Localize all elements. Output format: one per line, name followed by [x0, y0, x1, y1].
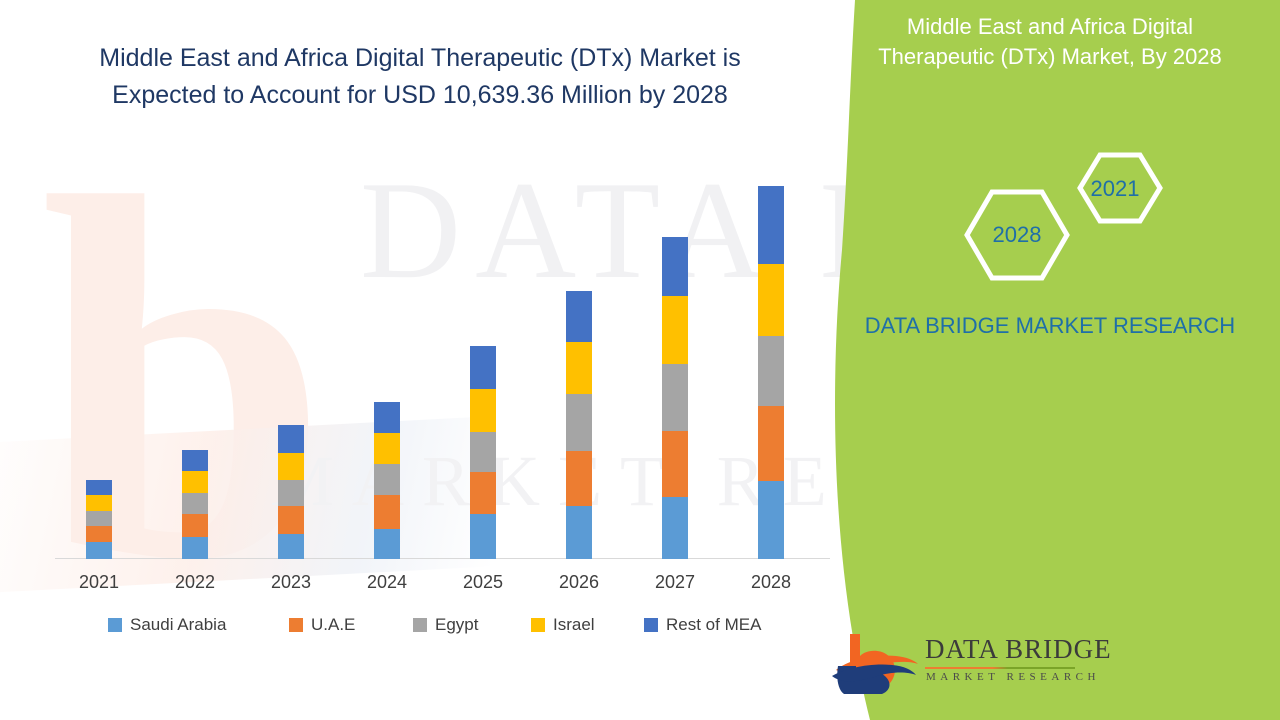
- legend-swatch-u-a-e: [289, 618, 303, 632]
- bar-segment-rest-of-mea[interactable]: [278, 425, 304, 453]
- bar-segment-u-a-e[interactable]: [566, 451, 592, 506]
- bar-segment-rest-of-mea[interactable]: [758, 186, 784, 264]
- logo-mark-icon: [830, 630, 920, 696]
- x-axis-label-2026: 2026: [539, 572, 619, 593]
- bar-segment-egypt[interactable]: [278, 480, 304, 506]
- hexagon-label-2028: 2028: [962, 222, 1072, 248]
- x-axis-label-2024: 2024: [347, 572, 427, 593]
- data-bridge-logo: DATA BRIDGE MARKET RESEARCH: [830, 630, 1080, 700]
- bar-segment-rest-of-mea[interactable]: [662, 237, 688, 296]
- bar-segment-saudi-arabia[interactable]: [662, 497, 688, 559]
- bar-2024[interactable]: [374, 402, 400, 559]
- bar-segment-saudi-arabia[interactable]: [566, 506, 592, 559]
- bar-segment-egypt[interactable]: [758, 336, 784, 406]
- legend-item-israel[interactable]: Israel: [531, 615, 595, 635]
- bar-segment-u-a-e[interactable]: [758, 406, 784, 481]
- bar-segment-israel[interactable]: [566, 342, 592, 394]
- bar-segment-egypt[interactable]: [86, 511, 112, 526]
- bar-2023[interactable]: [278, 425, 304, 559]
- bar-segment-egypt[interactable]: [662, 364, 688, 431]
- hexagon-label-2021: 2021: [1060, 176, 1170, 202]
- legend-item-saudi-arabia[interactable]: Saudi Arabia: [108, 615, 226, 635]
- bar-segment-israel[interactable]: [278, 453, 304, 480]
- bar-segment-israel[interactable]: [374, 433, 400, 464]
- bar-segment-israel[interactable]: [470, 389, 496, 432]
- legend-label-egypt: Egypt: [435, 615, 478, 635]
- bar-segment-israel[interactable]: [182, 471, 208, 493]
- x-axis-label-2023: 2023: [251, 572, 331, 593]
- legend-item-u-a-e[interactable]: U.A.E: [289, 615, 355, 635]
- bar-segment-u-a-e[interactable]: [278, 506, 304, 534]
- x-axis-label-2022: 2022: [155, 572, 235, 593]
- bar-segment-saudi-arabia[interactable]: [278, 534, 304, 559]
- bar-segment-egypt[interactable]: [566, 394, 592, 451]
- bar-segment-saudi-arabia[interactable]: [374, 529, 400, 559]
- logo-title: DATA BRIDGE: [925, 634, 1112, 665]
- chart-legend: Saudi ArabiaU.A.EEgyptIsraelRest of MEA: [0, 615, 860, 643]
- bar-segment-egypt[interactable]: [182, 493, 208, 514]
- logo-tagline: MARKET RESEARCH: [926, 671, 1100, 683]
- bar-2025[interactable]: [470, 346, 496, 559]
- hexagon-badges: 2021 2028: [950, 140, 1180, 290]
- legend-label-saudi-arabia: Saudi Arabia: [130, 615, 226, 635]
- legend-item-egypt[interactable]: Egypt: [413, 615, 478, 635]
- bar-segment-rest-of-mea[interactable]: [374, 402, 400, 433]
- right-green-panel: Middle East and Africa Digital Therapeut…: [820, 0, 1280, 720]
- bar-2022[interactable]: [182, 450, 208, 559]
- bar-2021[interactable]: [86, 480, 112, 559]
- plot-area: [55, 160, 830, 559]
- bar-2027[interactable]: [662, 237, 688, 559]
- x-axis-label-2025: 2025: [443, 572, 523, 593]
- x-axis-label-2028: 2028: [731, 572, 811, 593]
- bar-2026[interactable]: [566, 291, 592, 559]
- bar-segment-egypt[interactable]: [470, 432, 496, 472]
- bar-segment-saudi-arabia[interactable]: [182, 537, 208, 559]
- legend-label-israel: Israel: [553, 615, 595, 635]
- bar-segment-rest-of-mea[interactable]: [470, 346, 496, 389]
- bar-segment-u-a-e[interactable]: [662, 431, 688, 497]
- logo-underline: [925, 667, 1075, 669]
- bar-segment-israel[interactable]: [758, 264, 784, 336]
- legend-swatch-saudi-arabia: [108, 618, 122, 632]
- panel-title: Middle East and Africa Digital Therapeut…: [850, 12, 1250, 72]
- bar-segment-saudi-arabia[interactable]: [758, 481, 784, 559]
- legend-item-rest-of-mea[interactable]: Rest of MEA: [644, 615, 761, 635]
- bar-segment-rest-of-mea[interactable]: [86, 480, 112, 495]
- legend-label-u-a-e: U.A.E: [311, 615, 355, 635]
- panel-brand-text: DATA BRIDGE MARKET RESEARCH: [850, 310, 1250, 342]
- bar-segment-rest-of-mea[interactable]: [566, 291, 592, 342]
- bar-segment-saudi-arabia[interactable]: [470, 514, 496, 559]
- hexagon-shapes: [950, 140, 1180, 290]
- bar-segment-u-a-e[interactable]: [374, 495, 400, 529]
- x-axis-label-2027: 2027: [635, 572, 715, 593]
- stacked-bar-chart: 20212022202320242025202620272028 Saudi A…: [0, 0, 860, 720]
- bar-segment-u-a-e[interactable]: [182, 514, 208, 537]
- bar-2028[interactable]: [758, 186, 784, 559]
- legend-swatch-egypt: [413, 618, 427, 632]
- legend-swatch-rest-of-mea: [644, 618, 658, 632]
- legend-label-rest-of-mea: Rest of MEA: [666, 615, 761, 635]
- bar-segment-rest-of-mea[interactable]: [182, 450, 208, 471]
- legend-swatch-israel: [531, 618, 545, 632]
- bar-segment-u-a-e[interactable]: [470, 472, 496, 514]
- bar-segment-israel[interactable]: [86, 495, 112, 511]
- bar-segment-egypt[interactable]: [374, 464, 400, 495]
- slide-canvas: b DATA BRIDGE MARKET RESEARCH Middle Eas…: [0, 0, 1280, 720]
- bar-segment-u-a-e[interactable]: [86, 526, 112, 542]
- bar-segment-saudi-arabia[interactable]: [86, 542, 112, 559]
- x-axis-labels: 20212022202320242025202620272028: [0, 572, 860, 598]
- bar-segment-israel[interactable]: [662, 296, 688, 364]
- x-axis-label-2021: 2021: [59, 572, 139, 593]
